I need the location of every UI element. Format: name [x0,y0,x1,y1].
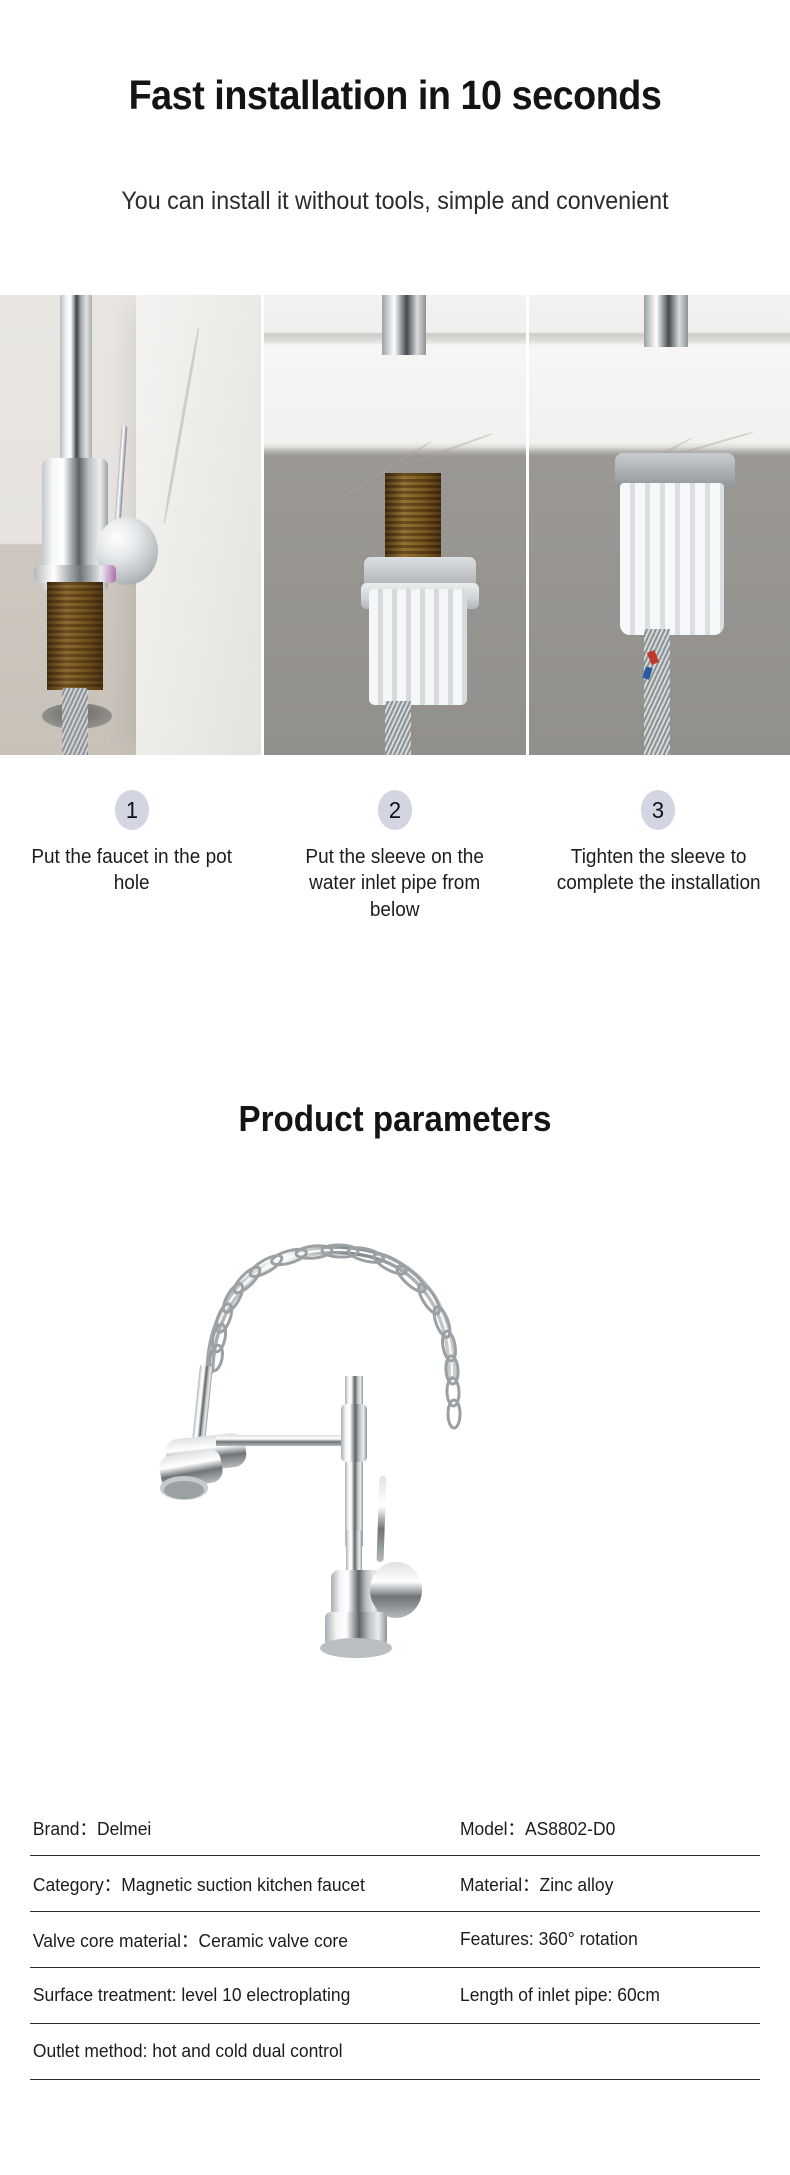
product-hero-image [0,1180,790,1780]
spec-cell-category: Category：Magnetic suction kitchen faucet [30,1871,447,1897]
table-row: Valve core material：Ceramic valve core F… [30,1912,760,1968]
page-title: Fast installation in 10 seconds [32,74,759,117]
step-number-badge: 2 [378,790,412,830]
table-row: Brand：Delmei Model：AS8802-D0 [30,1800,760,1856]
step-number-badge: 1 [115,790,149,830]
step-caption: Put the faucet in the pot hole [7,844,257,897]
braided-hose-icon [62,688,88,755]
braided-hose-icon [644,629,670,755]
product-parameters-table: Brand：Delmei Model：AS8802-D0 Category：Ma… [30,1800,760,2080]
step-photo-1 [0,295,261,755]
spec-cell-features: Features: 360° rotation [460,1929,751,1950]
product-detail-page: Fast installation in 10 seconds You can … [0,0,790,2175]
section-title-product-parameters: Product parameters [32,1098,759,1140]
table-row: Outlet method: hot and cold dual control [30,2024,760,2080]
faucet-column-icon [60,295,92,471]
spec-cell-valve-core: Valve core material：Ceramic valve core [30,1927,447,1953]
threaded-shank-icon [385,473,441,563]
installation-photo-strip [0,295,790,755]
spec-cell-outlet-method: Outlet method: hot and cold dual control [30,2041,447,2062]
installation-step-1: 1 Put the faucet in the pot hole [0,790,263,923]
step-photo-3 [529,295,790,755]
spec-cell-inlet-pipe-length: Length of inlet pipe: 60cm [460,1985,751,2006]
installation-step-2: 2 Put the sleeve on the water inlet pipe… [263,790,526,923]
step-caption: Tighten the sleeve to complete the insta… [533,844,783,897]
page-subtitle: You can install it without tools, simple… [28,188,763,216]
spec-cell-surface-treatment: Surface treatment: level 10 electroplati… [30,1985,447,2006]
step-number-badge: 3 [641,790,675,830]
step-caption: Put the sleeve on the water inlet pipe f… [270,844,520,923]
table-row: Surface treatment: level 10 electroplati… [30,1968,760,2024]
installation-step-3: 3 Tighten the sleeve to complete the ins… [527,790,790,923]
threaded-shank-icon [47,582,103,690]
sleeve-body-icon [620,483,724,635]
faucet-cap-icon [34,565,116,583]
step-photo-2 [264,295,525,755]
sleeve-body-icon [369,589,467,705]
spec-cell-brand: Brand：Delmei [30,1815,447,1841]
spec-cell-model: Model：AS8802-D0 [460,1815,751,1841]
braided-hose-icon [385,701,411,755]
table-row: Category：Magnetic suction kitchen faucet… [30,1856,760,1912]
spec-cell-material: Material：Zinc alloy [460,1871,751,1897]
faucet-column-icon [382,295,426,355]
installation-steps-list: 1 Put the faucet in the pot hole 2 Put t… [0,790,790,923]
faucet-column-icon [644,295,688,347]
